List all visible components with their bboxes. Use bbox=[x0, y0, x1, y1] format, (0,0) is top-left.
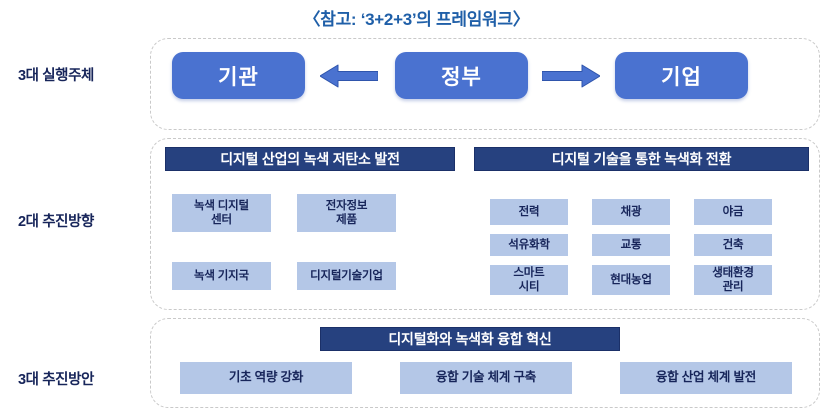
direction-cell-power[interactable]: 전력 bbox=[490, 199, 568, 225]
direction-cell-petrochemical[interactable]: 석유화학 bbox=[490, 234, 568, 256]
direction-cell-digital-tech-company[interactable]: 디지털기술기업 bbox=[297, 262, 396, 290]
arrow-left-icon bbox=[320, 63, 378, 89]
row-label-plans: 3대 추진방안 bbox=[18, 368, 146, 389]
actor-box-enterprise[interactable]: 기업 bbox=[615, 52, 748, 99]
direction-cell-eco-environment-management[interactable]: 생태환경 관리 bbox=[694, 265, 772, 295]
row-label-directions: 2대 추진방향 bbox=[18, 210, 146, 231]
plan-cell-basic-capability[interactable]: 기초 역량 강화 bbox=[180, 362, 352, 394]
framework-diagram: 〈참고: ‘3+2+3’의 프레임워크〉 3대 실행주체 2대 추진방향 3대 … bbox=[0, 0, 833, 418]
directions-left-header: 디지털 산업의 녹색 저탄소 발전 bbox=[165, 147, 455, 171]
direction-cell-smart-city[interactable]: 스마트 시티 bbox=[490, 265, 568, 295]
actor-box-institution[interactable]: 기관 bbox=[172, 52, 305, 99]
direction-cell-construction[interactable]: 건축 bbox=[694, 234, 772, 256]
direction-cell-electronic-info-products[interactable]: 전자정보 제품 bbox=[297, 194, 396, 232]
row-label-actors: 3대 실행주체 bbox=[18, 64, 146, 85]
direction-cell-transport[interactable]: 교통 bbox=[592, 234, 670, 256]
directions-right-header: 디지털 기술을 통한 녹색화 전환 bbox=[474, 147, 809, 171]
direction-cell-modern-agriculture[interactable]: 현대농업 bbox=[592, 265, 670, 295]
direction-cell-green-digital-center[interactable]: 녹색 디지털 센터 bbox=[172, 194, 271, 232]
direction-cell-green-base-station[interactable]: 녹색 기지국 bbox=[172, 262, 271, 290]
actor-box-government[interactable]: 정부 bbox=[395, 52, 528, 99]
direction-cell-metallurgy[interactable]: 야금 bbox=[694, 199, 772, 225]
direction-cell-mining[interactable]: 채광 bbox=[592, 199, 670, 225]
plans-header: 디지털화와 녹색화 융합 혁신 bbox=[320, 327, 620, 351]
arrow-right-icon bbox=[542, 63, 600, 89]
plan-cell-convergence-industry-system[interactable]: 융합 산업 체계 발전 bbox=[620, 362, 792, 394]
page-title: 〈참고: ‘3+2+3’의 프레임워크〉 bbox=[0, 5, 833, 30]
plan-cell-convergence-tech-system[interactable]: 융합 기술 체계 구축 bbox=[400, 362, 572, 394]
